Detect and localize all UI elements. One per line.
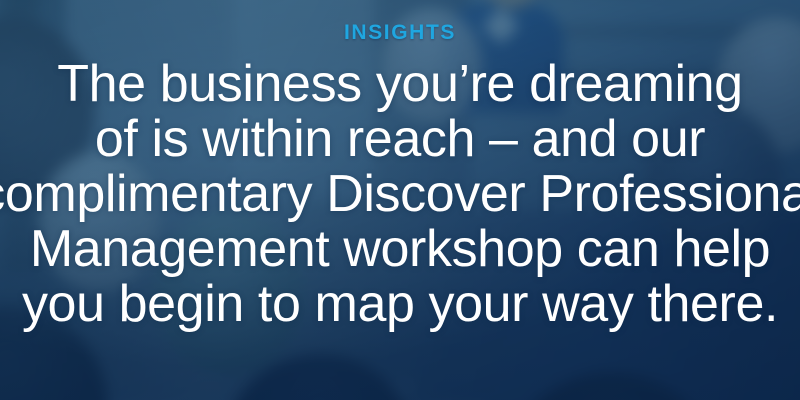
headline-line-5: you begin to map your way there. <box>0 277 800 332</box>
eyebrow-label: INSIGHTS <box>344 22 456 43</box>
headline-line-2: of is within reach – and our <box>0 112 800 167</box>
headline-line-3: complimentary Discover Professional <box>0 167 800 222</box>
headline-line-4: Management workshop can help <box>0 222 800 277</box>
headline: The business you’re dreaming of is withi… <box>0 57 800 332</box>
insights-hero-banner: INSIGHTS The business you’re dreaming of… <box>0 0 800 400</box>
headline-line-1: The business you’re dreaming <box>0 57 800 112</box>
banner-content: INSIGHTS The business you’re dreaming of… <box>0 0 800 400</box>
